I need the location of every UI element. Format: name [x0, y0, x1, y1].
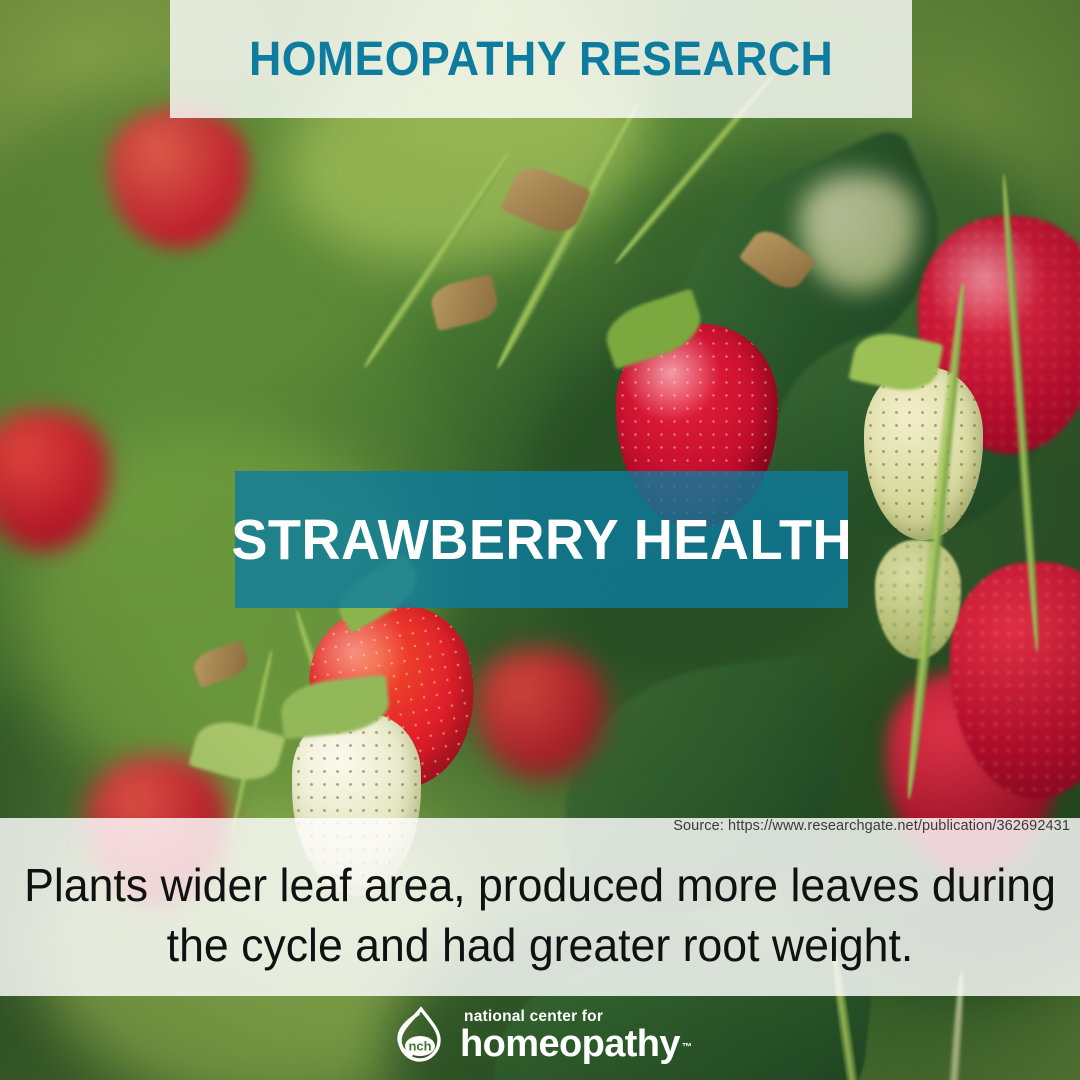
- nch-logo-main-line: homeopathy: [460, 1025, 680, 1063]
- topic-banner: STRAWBERRY HEALTH: [235, 471, 848, 608]
- topic-banner-title: STRAWBERRY HEALTH: [231, 507, 852, 573]
- nch-logo: nch national center for homeopathy™: [0, 1002, 1080, 1070]
- nch-leaf-droplet-icon: nch: [388, 1005, 450, 1067]
- social-media-poster: HOMEOPATHY RESEARCH STRAWBERRY HEALTH So…: [0, 0, 1080, 1080]
- svg-text:nch: nch: [408, 1039, 431, 1054]
- page-title: HOMEOPATHY RESEARCH: [249, 32, 833, 87]
- caption-text: Plants wider leaf area, produced more le…: [16, 855, 1064, 975]
- nch-logo-wordmark: national center for homeopathy™: [460, 1009, 692, 1064]
- nch-logo-top-line: national center for: [464, 1009, 692, 1025]
- header-band: HOMEOPATHY RESEARCH: [170, 0, 912, 118]
- source-citation[interactable]: Source: https://www.researchgate.net/pub…: [673, 818, 1070, 834]
- trademark-symbol: ™: [682, 1042, 692, 1053]
